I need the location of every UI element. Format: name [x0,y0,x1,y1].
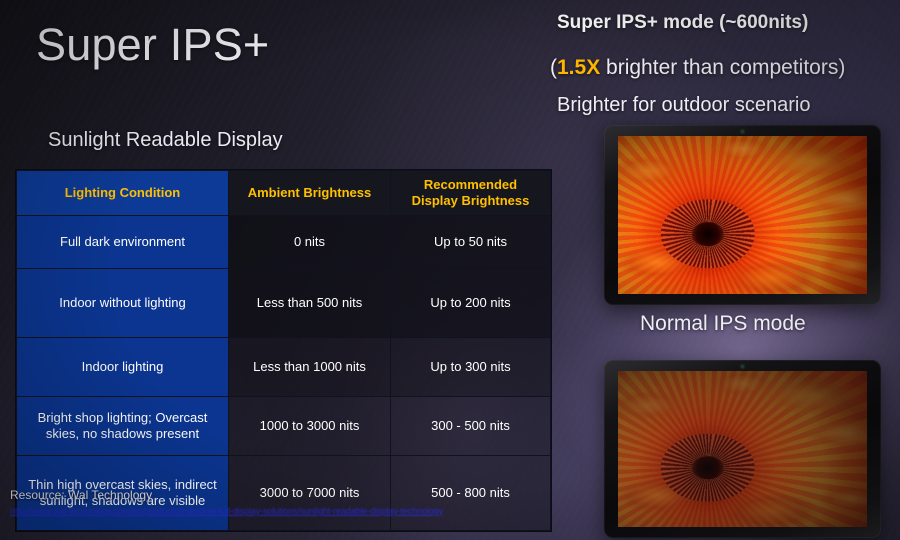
cell-ambient: Less than 500 nits [229,269,391,338]
column-header-lighting-condition: Lighting Condition [17,171,229,216]
cell-recommended: 300 - 500 nits [391,397,551,456]
tablet-normal-ips-mode [604,360,881,538]
cell-recommended: Up to 300 nits [391,338,551,397]
cell-recommended: 500 - 800 nits [391,456,551,531]
cell-condition: Bright shop lighting; Overcast skies, no… [17,397,229,456]
section-subtitle: Sunlight Readable Display [48,129,283,152]
cell-condition: Full dark environment [17,216,229,269]
super-ips-mode-heading: Super IPS+ mode (~600nits) [557,12,808,34]
comparison-rest: brighter than competitors) [600,56,845,79]
chrysanthemum-photo [618,136,867,294]
header-line-1: Recommended [424,177,517,192]
tablet-super-ips-mode [604,125,881,305]
header-line-2: Display Brightness [412,193,530,208]
cell-ambient: 3000 to 7000 nits [229,456,391,531]
cell-ambient: Less than 1000 nits [229,338,391,397]
slide-canvas: Super IPS+ Sunlight Readable Display Lig… [0,0,900,540]
cell-recommended: Up to 200 nits [391,269,551,338]
cell-condition: Indoor without lighting [17,269,229,338]
cell-ambient: 0 nits [229,216,391,269]
table-row: Indoor without lighting Less than 500 ni… [17,269,551,338]
paren-open: ( [550,56,557,79]
resource-label: Resource: Wal Technology [10,488,152,502]
table-row: Full dark environment 0 nits Up to 50 ni… [17,216,551,269]
outdoor-scenario-text: Brighter for outdoor scenario [557,94,810,117]
tablet-screen-dim [618,371,867,527]
tablet-screen-bright [618,136,867,294]
cell-condition: Indoor lighting [17,338,229,397]
camera-icon [741,130,744,133]
cell-recommended: Up to 50 nits [391,216,551,269]
column-header-recommended-display-brightness: Recommended Display Brightness [391,171,551,216]
brightness-comparison-text: (1.5X brighter than competitors) [550,56,845,80]
page-title: Super IPS+ [36,22,269,67]
camera-icon [741,365,744,368]
normal-ips-mode-label: Normal IPS mode [640,312,806,336]
table-header-row: Lighting Condition Ambient Brightness Re… [17,171,551,216]
source-url-link[interactable]: http://www.wal-technology.com/en/product… [10,506,443,516]
sunlight-readable-table: Lighting Condition Ambient Brightness Re… [16,170,551,531]
table-row: Bright shop lighting; Overcast skies, no… [17,397,551,456]
chrysanthemum-photo [618,371,867,527]
cell-ambient: 1000 to 3000 nits [229,397,391,456]
table-row: Indoor lighting Less than 1000 nits Up t… [17,338,551,397]
column-header-ambient-brightness: Ambient Brightness [229,171,391,216]
brightness-multiplier: 1.5X [557,56,600,79]
